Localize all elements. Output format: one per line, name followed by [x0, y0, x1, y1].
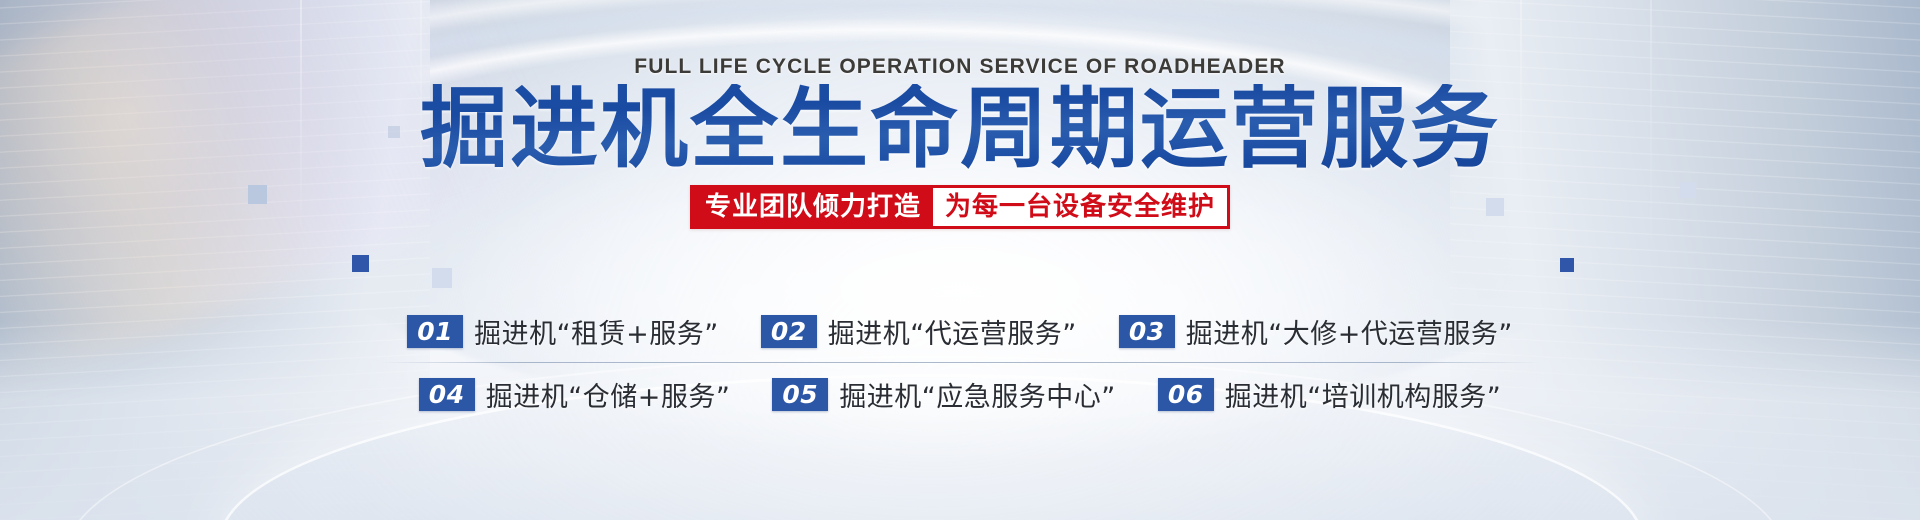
service-number-badge: 03 — [1119, 315, 1175, 348]
service-item-04[interactable]: 04 掘进机“仓储+服务” — [419, 375, 731, 414]
service-row-1: 01 掘进机“租赁+服务” 02 掘进机“代运营服务” 03 掘进机“大修+代运… — [380, 300, 1540, 362]
service-item-02[interactable]: 02 掘进机“代运营服务” — [761, 312, 1077, 351]
banner-eyebrow-english: FULL LIFE CYCLE OPERATION SERVICE OF ROA… — [0, 55, 1920, 79]
service-item-03[interactable]: 03 掘进机“大修+代运营服务” — [1119, 312, 1513, 351]
service-number-badge: 04 — [419, 378, 475, 411]
service-label: 掘进机“培训机构服务” — [1225, 375, 1501, 414]
service-label: 掘进机“仓储+服务” — [486, 375, 731, 414]
roadheader-service-banner: FULL LIFE CYCLE OPERATION SERVICE OF ROA… — [0, 0, 1920, 520]
service-label: 掘进机“租赁+服务” — [474, 312, 719, 351]
ribbon-left-text: 专业团队倾力打造 — [693, 188, 933, 226]
ribbon-right-text: 为每一台设备安全维护 — [933, 188, 1227, 226]
service-item-05[interactable]: 05 掘进机“应急服务中心” — [772, 375, 1115, 414]
service-label: 掘进机“大修+代运营服务” — [1186, 312, 1513, 351]
service-number-badge: 02 — [761, 315, 817, 348]
service-list: 01 掘进机“租赁+服务” 02 掘进机“代运营服务” 03 掘进机“大修+代运… — [380, 300, 1540, 425]
banner-headline: 掘进机全生命周期运营服务 — [0, 84, 1920, 174]
service-number-badge: 01 — [407, 315, 463, 348]
banner-ribbon: 专业团队倾力打造 为每一台设备安全维护 — [0, 185, 1920, 229]
service-row-2: 04 掘进机“仓储+服务” 05 掘进机“应急服务中心” 06 掘进机“培训机构… — [380, 363, 1540, 425]
ribbon-box: 专业团队倾力打造 为每一台设备安全维护 — [690, 185, 1230, 229]
service-label: 掘进机“代运营服务” — [828, 312, 1077, 351]
service-label: 掘进机“应急服务中心” — [839, 375, 1115, 414]
service-item-01[interactable]: 01 掘进机“租赁+服务” — [407, 312, 719, 351]
service-number-badge: 06 — [1158, 378, 1214, 411]
banner-content: FULL LIFE CYCLE OPERATION SERVICE OF ROA… — [0, 0, 1920, 520]
service-item-06[interactable]: 06 掘进机“培训机构服务” — [1158, 375, 1501, 414]
service-number-badge: 05 — [772, 378, 828, 411]
